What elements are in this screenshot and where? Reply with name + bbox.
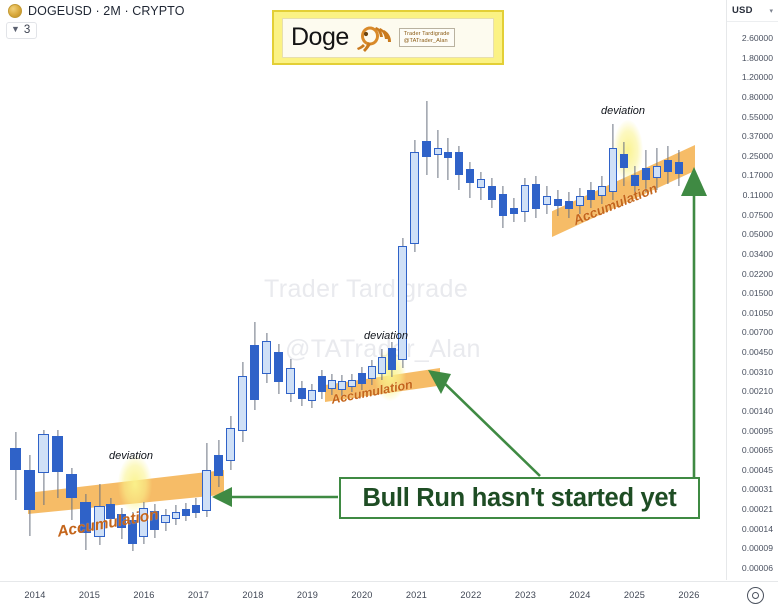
candle-body [620,154,628,168]
title-card-inner: Doge Trader Tardigrade @TATrader_Alan [282,18,494,58]
time-tick: 2014 [24,590,45,600]
candle-body [328,380,336,389]
candlestick [510,198,518,222]
candle-body [576,196,584,206]
brand-line-1: Trader Tardigrade [404,31,450,38]
candle-body [488,186,496,200]
candle-body [477,179,485,188]
candle-body [226,428,235,461]
candlestick [226,416,235,470]
time-tick: 2020 [351,590,372,600]
deviation-label-right: deviation [601,105,645,117]
candle-body [378,357,386,374]
candlestick [161,509,170,531]
time-axis[interactable]: 2014201520162017201820192020202120222023… [0,581,778,609]
candlestick [554,190,562,216]
price-tick: 0.00021 [742,504,773,514]
candle-body [388,348,396,370]
time-tick: 2024 [569,590,590,600]
candlestick [543,186,551,214]
time-tick: 2016 [133,590,154,600]
candlestick [202,443,211,517]
candle-body [664,160,672,172]
callout-text: Bull Run hasn't started yet [363,484,677,513]
price-tick: 0.00065 [742,445,773,455]
candle-body [455,152,463,175]
candlestick [422,101,431,175]
candle-body [466,169,474,183]
deviation-label-middle: deviation [364,330,408,342]
candlestick [10,432,21,500]
candle-body [38,434,49,473]
candle-body [24,470,35,510]
candle-body [510,208,518,214]
candle-body [609,148,617,192]
price-tick: 0.01050 [742,308,773,318]
price-tick: 0.00210 [742,386,773,396]
candle-body [499,194,507,216]
candle-body [444,152,452,158]
candle-body [338,381,346,390]
candlestick [214,440,223,487]
deviation-label-left: deviation [109,450,153,462]
candlestick [455,146,463,190]
candlestick [298,381,306,406]
time-tick: 2023 [515,590,536,600]
candle-body [262,341,271,374]
candlestick [52,430,63,498]
candlestick [620,142,628,186]
candle-body [642,168,650,180]
candlestick [238,362,247,442]
candlestick [388,342,396,377]
candle-body [214,455,223,476]
candlestick [368,360,376,385]
candle-body [202,470,211,511]
price-tick: 0.05000 [742,229,773,239]
candlestick [488,178,496,208]
candlestick [444,138,452,180]
time-tick: 2019 [297,590,318,600]
candlestick [609,124,617,200]
candle-body [631,175,639,186]
candle-body [318,376,326,392]
candle-body [398,246,407,360]
candlestick [318,370,326,399]
candlestick [477,172,485,200]
candle-body [598,186,606,196]
candlestick [434,130,442,178]
price-tick: 0.00009 [742,543,773,553]
time-tick: 2025 [624,590,645,600]
price-tick: 1.20000 [742,72,773,82]
brand-credit-box: Trader Tardigrade @TATrader_Alan [399,28,455,48]
candle-body [10,448,21,470]
price-tick: 0.00700 [742,327,773,337]
candlestick [378,349,386,380]
candle-body [52,436,63,472]
candle-wick [426,101,427,175]
candlestick [172,505,180,525]
candlestick [410,140,419,252]
price-axis-header[interactable]: USD ▾ [727,0,778,22]
price-tick: 0.00014 [742,524,773,534]
title-card: Doge Trader Tardigrade @TATrader_Alan [272,10,504,65]
candle-body [348,380,356,387]
price-tick: 0.80000 [742,92,773,102]
callout-box[interactable]: Bull Run hasn't started yet [339,477,700,519]
candle-wick [447,138,448,180]
price-tick: 0.00031 [742,484,773,494]
candle-body [554,199,562,206]
candlestick [521,178,529,222]
candle-body [434,148,442,155]
price-tick: 0.37000 [742,131,773,141]
candle-body [66,474,77,498]
candle-body [358,373,366,384]
price-axis[interactable]: USD ▾ 2.600001.800001.200000.800000.5500… [726,0,778,580]
price-tick: 0.00045 [742,465,773,475]
price-tick: 0.55000 [742,112,773,122]
price-tick: 0.07500 [742,210,773,220]
candlestick [192,498,200,518]
candle-body [653,166,661,178]
candle-body [675,162,683,174]
candle-body [161,515,170,523]
price-tick: 1.80000 [742,53,773,63]
time-tick: 2018 [242,590,263,600]
candle-body [274,352,283,382]
price-tick: 0.00140 [742,406,773,416]
price-tick: 0.01500 [742,288,773,298]
candlestick [262,333,271,383]
candlestick [286,359,295,402]
candle-body [368,366,376,379]
price-tick: 0.00095 [742,426,773,436]
candle-body [238,376,247,431]
candle-body [543,196,551,205]
price-tick: 0.02200 [742,269,773,279]
candle-body [250,345,259,400]
price-tick: 0.00310 [742,367,773,377]
candle-body [532,184,540,209]
candlestick [66,468,77,520]
price-tick: 0.00450 [742,347,773,357]
price-tick: 0.03400 [742,249,773,259]
candle-body [286,368,295,394]
candlestick [38,430,49,505]
candle-body [308,390,316,401]
tradingview-chart-screenshot: DOGEUSD · 2M · CRYPTO ▼ 3 Trader Tardigr… [0,0,778,609]
candlestick [675,150,683,186]
candle-body [298,388,306,399]
chart-title: Doge [291,25,349,50]
candle-body [565,201,573,209]
candlestick [274,344,283,394]
price-tick: 0.17000 [742,170,773,180]
candle-body [172,512,180,519]
candlestick [182,503,190,521]
time-tick: 2021 [406,590,427,600]
candlestick [398,238,407,368]
caret-icon[interactable]: ▾ [769,7,773,15]
clock-target-icon[interactable] [747,587,764,604]
time-tick: 2022 [460,590,481,600]
price-tick: 0.00006 [742,563,773,573]
candlestick [250,322,259,410]
candlestick [532,176,540,218]
candlestick [466,162,474,198]
candlestick [664,146,672,184]
time-tick: 2015 [79,590,100,600]
tardigrade-logo-icon [355,22,393,54]
candlestick [499,186,507,228]
time-tick: 2026 [678,590,699,600]
currency-label: USD [732,5,753,16]
candle-body [587,190,595,200]
candlestick [24,455,35,536]
watermark-line-1: Trader Tardigrade [264,275,468,304]
brand-line-2: @TATrader_Alan [404,38,450,45]
price-tick: 2.60000 [742,33,773,43]
candle-body [182,509,190,516]
price-tick: 0.11000 [743,190,773,200]
candlestick [308,384,316,408]
time-tick: 2017 [188,590,209,600]
candle-body [521,185,529,212]
price-tick: 0.25000 [742,151,773,161]
candle-body [192,505,200,513]
candle-body [422,141,431,157]
candle-body [410,152,419,244]
